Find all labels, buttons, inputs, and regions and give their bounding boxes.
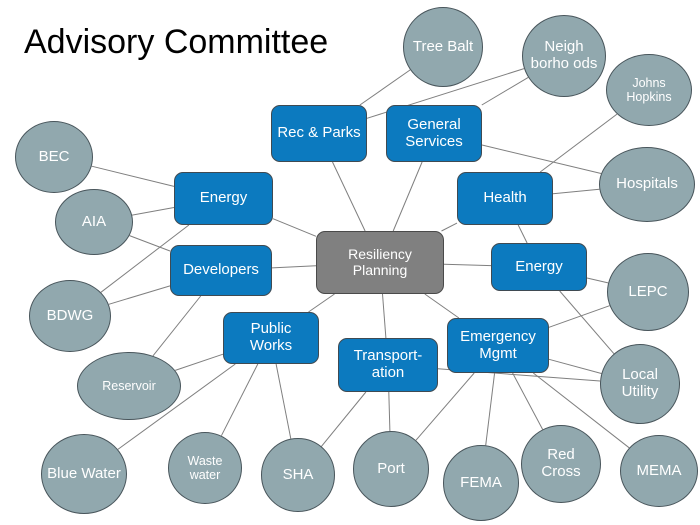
node-label-red_cross: Red Cross: [526, 447, 596, 481]
node-label-transportation: Transport-ation: [343, 348, 433, 382]
node-resiliency_planning[interactable]: Resiliency Planning: [316, 231, 444, 294]
node-fema[interactable]: FEMA: [443, 445, 519, 521]
node-red_cross[interactable]: Red Cross: [521, 425, 601, 503]
node-health[interactable]: Health: [457, 172, 553, 225]
node-blue_water[interactable]: Blue Water: [41, 434, 127, 514]
node-label-emergency_mgmt: Emergency Mgmt: [452, 329, 544, 363]
node-layer: Resiliency PlanningRec & ParksGeneral Se…: [0, 0, 700, 525]
node-label-lepc: LEPC: [612, 284, 684, 301]
node-label-fema: FEMA: [448, 475, 514, 492]
node-label-mema: MEMA: [625, 463, 693, 480]
node-johns_hopkins[interactable]: Johns Hopkins: [606, 54, 692, 126]
node-reservoir[interactable]: Reservoir: [77, 352, 181, 420]
node-general_services[interactable]: General Services: [386, 105, 482, 162]
node-energy_left[interactable]: Energy: [174, 172, 273, 225]
node-rec_parks[interactable]: Rec & Parks: [271, 105, 367, 162]
node-label-rec_parks: Rec & Parks: [276, 125, 362, 142]
node-mema[interactable]: MEMA: [620, 435, 698, 507]
node-local_utility[interactable]: Local Utility: [600, 344, 680, 424]
node-public_works[interactable]: Public Works: [223, 312, 319, 364]
node-bdwg[interactable]: BDWG: [29, 280, 111, 352]
node-waste_water[interactable]: Waste water: [168, 432, 242, 504]
node-label-energy_right: Energy: [496, 259, 582, 276]
node-energy_right[interactable]: Energy: [491, 243, 587, 291]
node-aia[interactable]: AIA: [55, 189, 133, 255]
slide-canvas: Advisory Committee Resiliency PlanningRe…: [0, 0, 700, 525]
node-label-sha: SHA: [266, 467, 330, 484]
node-label-general_services: General Services: [391, 117, 477, 151]
node-lepc[interactable]: LEPC: [607, 253, 689, 331]
node-tree_balt[interactable]: Tree Balt: [403, 7, 483, 87]
node-hospitals[interactable]: Hospitals: [599, 147, 695, 222]
node-label-local_utility: Local Utility: [605, 367, 675, 401]
node-developers[interactable]: Developers: [170, 245, 272, 296]
node-label-energy_left: Energy: [179, 190, 268, 207]
node-label-waste_water: Waste water: [173, 454, 237, 482]
node-label-neighborhoods: Neigh borho ods: [527, 39, 601, 73]
node-neighborhoods[interactable]: Neigh borho ods: [522, 15, 606, 97]
node-label-johns_hopkins: Johns Hopkins: [611, 76, 687, 104]
node-label-aia: AIA: [60, 214, 128, 231]
node-emergency_mgmt[interactable]: Emergency Mgmt: [447, 318, 549, 373]
node-label-reservoir: Reservoir: [82, 379, 176, 393]
node-label-blue_water: Blue Water: [46, 466, 122, 483]
node-label-health: Health: [462, 190, 548, 207]
node-port[interactable]: Port: [353, 431, 429, 507]
node-sha[interactable]: SHA: [261, 438, 335, 512]
node-label-port: Port: [358, 461, 424, 478]
node-label-resiliency_planning: Resiliency Planning: [321, 247, 439, 278]
node-label-public_works: Public Works: [228, 321, 314, 355]
node-label-developers: Developers: [175, 262, 267, 279]
node-bec[interactable]: BEC: [15, 121, 93, 193]
node-label-bdwg: BDWG: [34, 308, 106, 325]
node-label-tree_balt: Tree Balt: [408, 39, 478, 56]
node-transportation[interactable]: Transport-ation: [338, 338, 438, 392]
node-label-bec: BEC: [20, 149, 88, 166]
node-label-hospitals: Hospitals: [604, 176, 690, 193]
